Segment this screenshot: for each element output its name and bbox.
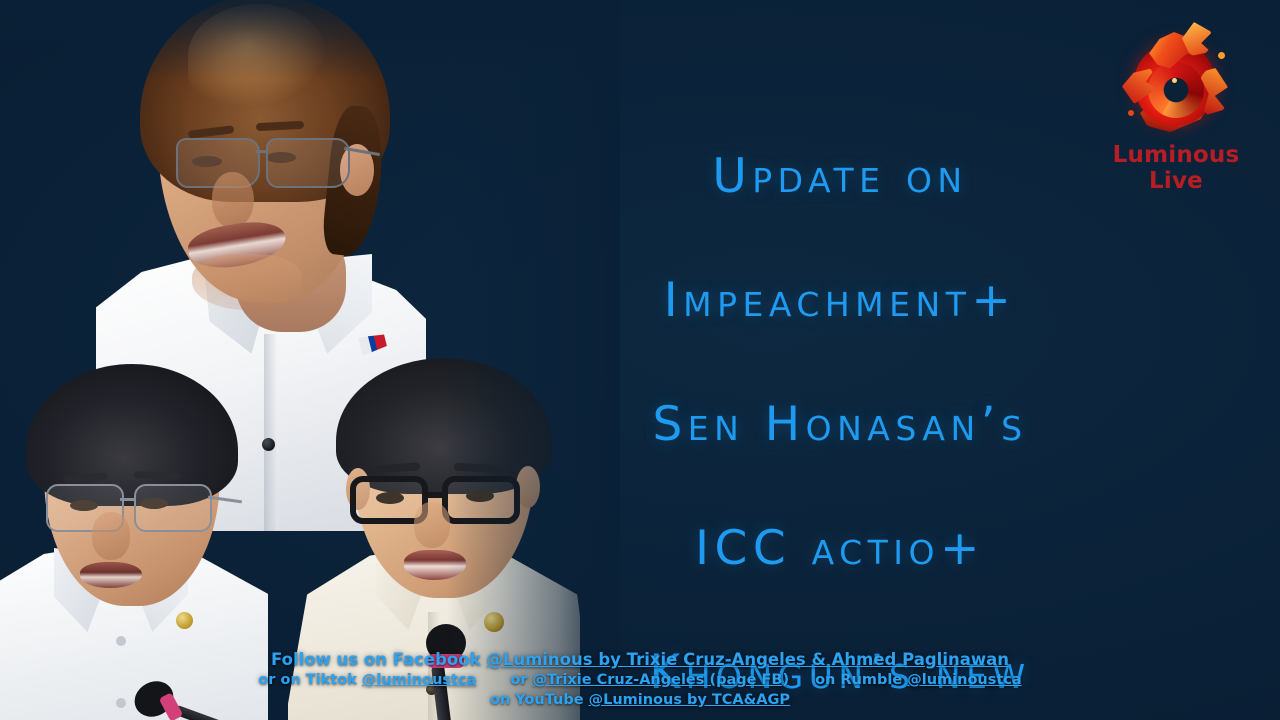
logo-wordmark: Luminous Live [1088,142,1264,194]
glasses-bridge [428,492,444,498]
footer-yt-prefix: on YouTube [490,692,589,708]
nose [414,502,450,548]
eyeglasses [34,484,236,534]
footer-fb-handle[interactable]: @Luminous by Trixie Cruz-Angeles & Ahmed… [486,650,1009,669]
footer-tiktok-handle[interactable]: @luminoustca [362,672,476,688]
footer-rumble-handle[interactable]: @luminoustca [907,672,1021,688]
nose [212,172,254,228]
lapel-pin [176,612,193,629]
footer-rumble-prefix: on Rumble [815,672,907,688]
eyeglasses [166,138,372,190]
lens-right [134,484,212,532]
shirt-button [116,636,126,646]
footer-line-facebook: Follow us on Facebook @Luminous by Trixi… [0,649,1280,670]
footer-fbpage-handle[interactable]: @Trixie Cruz-Angeles (page FB) [533,672,790,688]
footer-fbpage-prefix: or [510,672,532,688]
headline-line-4: ICC actio+ [490,518,1190,580]
headline: Update on Impeachment+ Sen Honasan’s ICC… [490,84,1190,720]
youtube-thumbnail: Update on Impeachment+ Sen Honasan’s ICC… [0,0,1280,720]
headline-line-2: Impeachment+ [490,270,1190,332]
footer-yt-handle[interactable]: @Luminous by TCA&AGP [589,692,790,708]
glasses-temple [208,496,242,503]
footer-tiktok-prefix: or on Tiktok [258,672,362,688]
channel-logo: Luminous Live [1088,18,1264,184]
lens-right [266,138,350,188]
nose [92,512,130,560]
headline-line-3: Sen Honasan’s [490,394,1190,456]
ember-particle [1218,52,1225,59]
chin [192,254,302,310]
hair-highlight [188,4,328,108]
flame-swirl [1148,62,1204,118]
flame-dragon-icon [1112,18,1240,138]
footer-fb-prefix: Follow us on Facebook [271,650,486,669]
glasses-bridge [256,150,268,153]
footer-social-links: Follow us on Facebook @Luminous by Trixi… [0,649,1280,710]
headline-line-1: Update on [490,146,1190,208]
footer-line-tiktok-fb-rumble: or on Tiktok @luminoustcaor @Trixie Cruz… [0,670,1280,690]
glasses-bridge [120,498,134,501]
footer-line-youtube: on YouTube @Luminous by TCA&AGP [0,690,1280,710]
ember-particle [1172,78,1177,83]
ember-particle [1128,110,1134,116]
